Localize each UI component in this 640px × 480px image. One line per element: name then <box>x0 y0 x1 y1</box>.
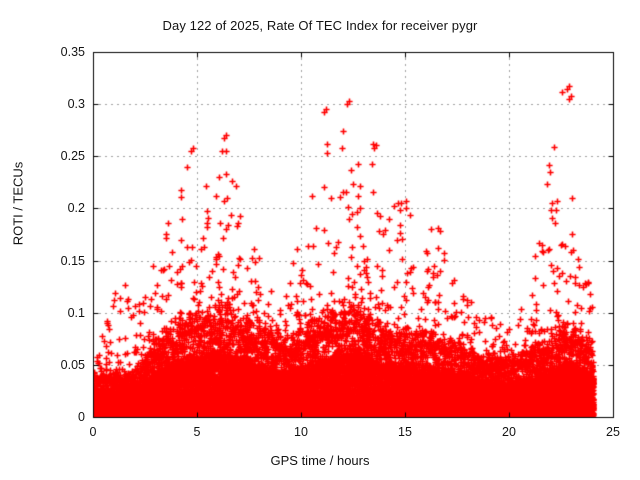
y-tick-label: 0.2 <box>68 201 85 215</box>
plot-canvas <box>0 0 640 480</box>
x-tick-label: 10 <box>294 425 308 439</box>
y-tick-label: 0.3 <box>68 97 85 111</box>
y-tick-label: 0 <box>78 410 85 424</box>
x-tick-label: 0 <box>90 425 97 439</box>
x-tick-label: 25 <box>606 425 620 439</box>
x-axis-label: GPS time / hours <box>0 453 640 468</box>
x-tick-label: 20 <box>502 425 516 439</box>
x-tick-label: 15 <box>398 425 412 439</box>
y-axis-label: ROTI / TECUs <box>11 124 26 284</box>
y-tick-label: 0.05 <box>61 358 85 372</box>
y-tick-label: 0.25 <box>61 149 85 163</box>
y-tick-label: 0.15 <box>61 254 85 268</box>
y-tick-label: 0.1 <box>68 306 85 320</box>
roti-scatter-plot: Day 122 of 2025, Rate Of TEC Index for r… <box>0 0 640 480</box>
y-tick-label: 0.35 <box>61 45 85 59</box>
x-tick-label: 5 <box>194 425 201 439</box>
